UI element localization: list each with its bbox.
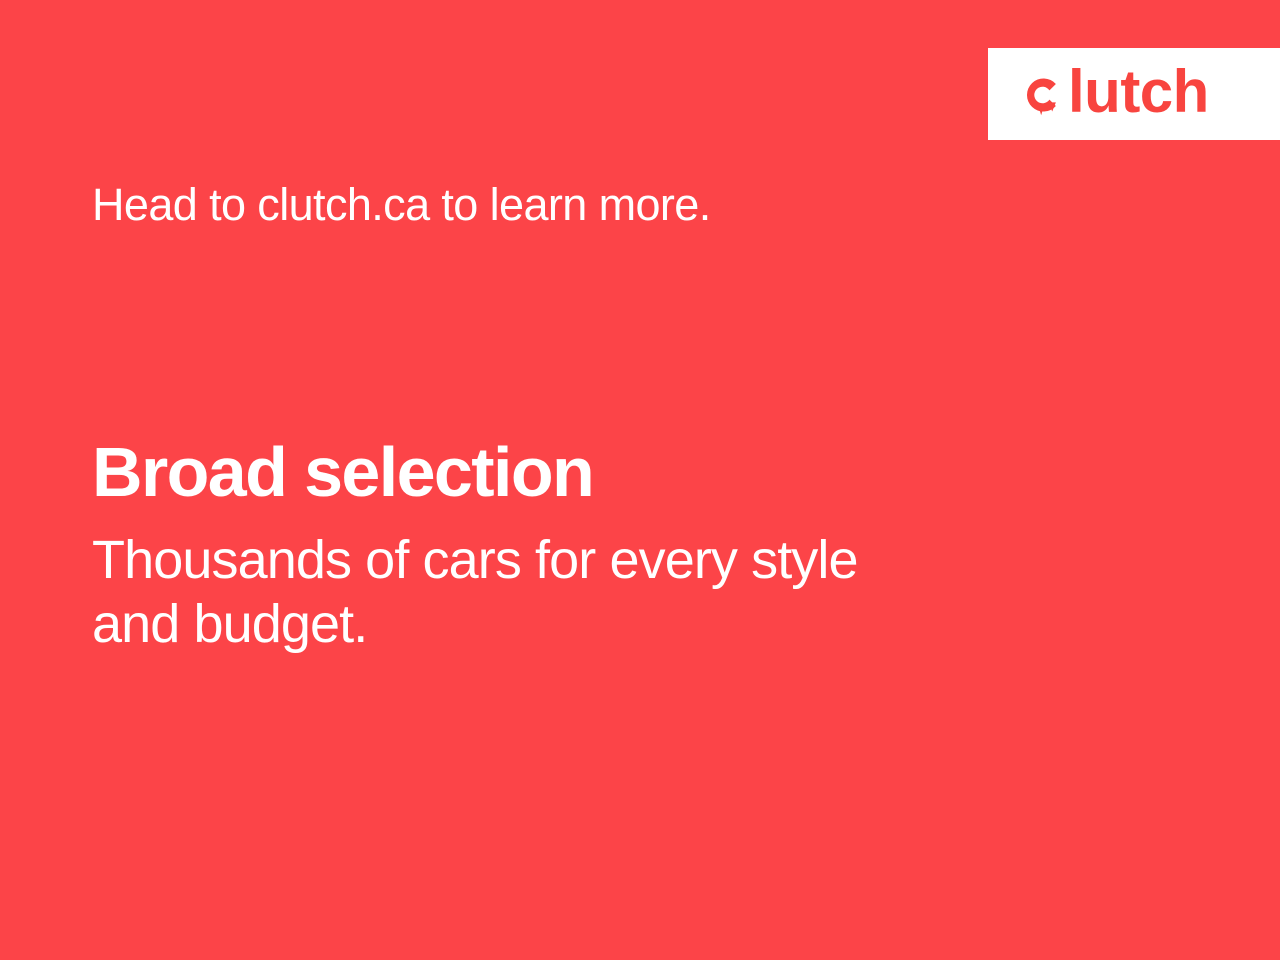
subheadline-line-1: Thousands of cars for every style (92, 529, 1022, 593)
subheadline: Thousands of cars for every style and bu… (92, 529, 1022, 656)
clutch-c-mark-icon (1020, 72, 1066, 118)
eyebrow-headline: Head to clutch.ca to learn more. (92, 180, 992, 230)
slide-canvas: lutch Head to clutch.ca to learn more. B… (0, 0, 1280, 960)
clutch-wordmark: lutch (1068, 62, 1209, 122)
brand-logo-plate[interactable]: lutch (988, 48, 1280, 140)
subheadline-line-2: and budget. (92, 593, 1022, 657)
clutch-logo-lockup[interactable]: lutch (1020, 64, 1209, 124)
copy-block: Broad selection Thousands of cars for ev… (92, 437, 1092, 656)
page-title: Broad selection (92, 437, 1092, 507)
